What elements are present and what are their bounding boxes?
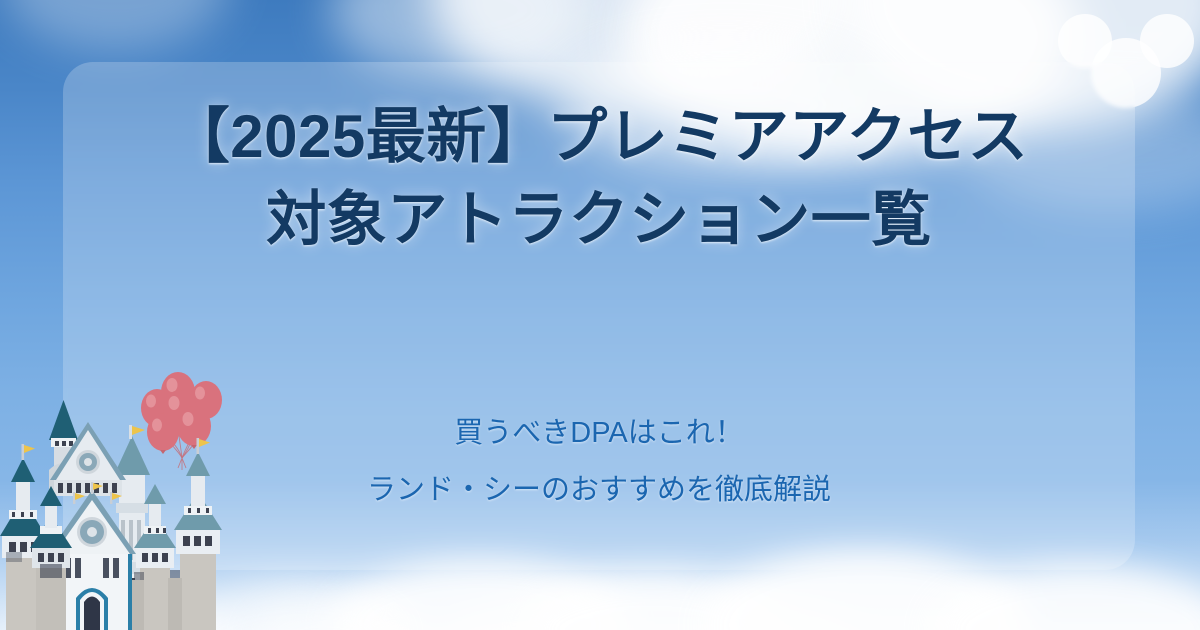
balloon-cluster-icon: [141, 372, 222, 470]
hero-banner: 【2025最新】プレミアアクセス 対象アトラクション一覧 買うべきDPAはこれ！…: [0, 0, 1200, 630]
title-line-2: 対象アトラクション一覧: [63, 179, 1135, 262]
page-title: 【2025最新】プレミアアクセス 対象アトラクション一覧: [63, 96, 1135, 262]
title-line-1: 【2025最新】プレミアアクセス: [63, 96, 1135, 179]
cloud-icon: [0, 0, 230, 50]
castle-and-balloons-illustration: [0, 340, 250, 630]
